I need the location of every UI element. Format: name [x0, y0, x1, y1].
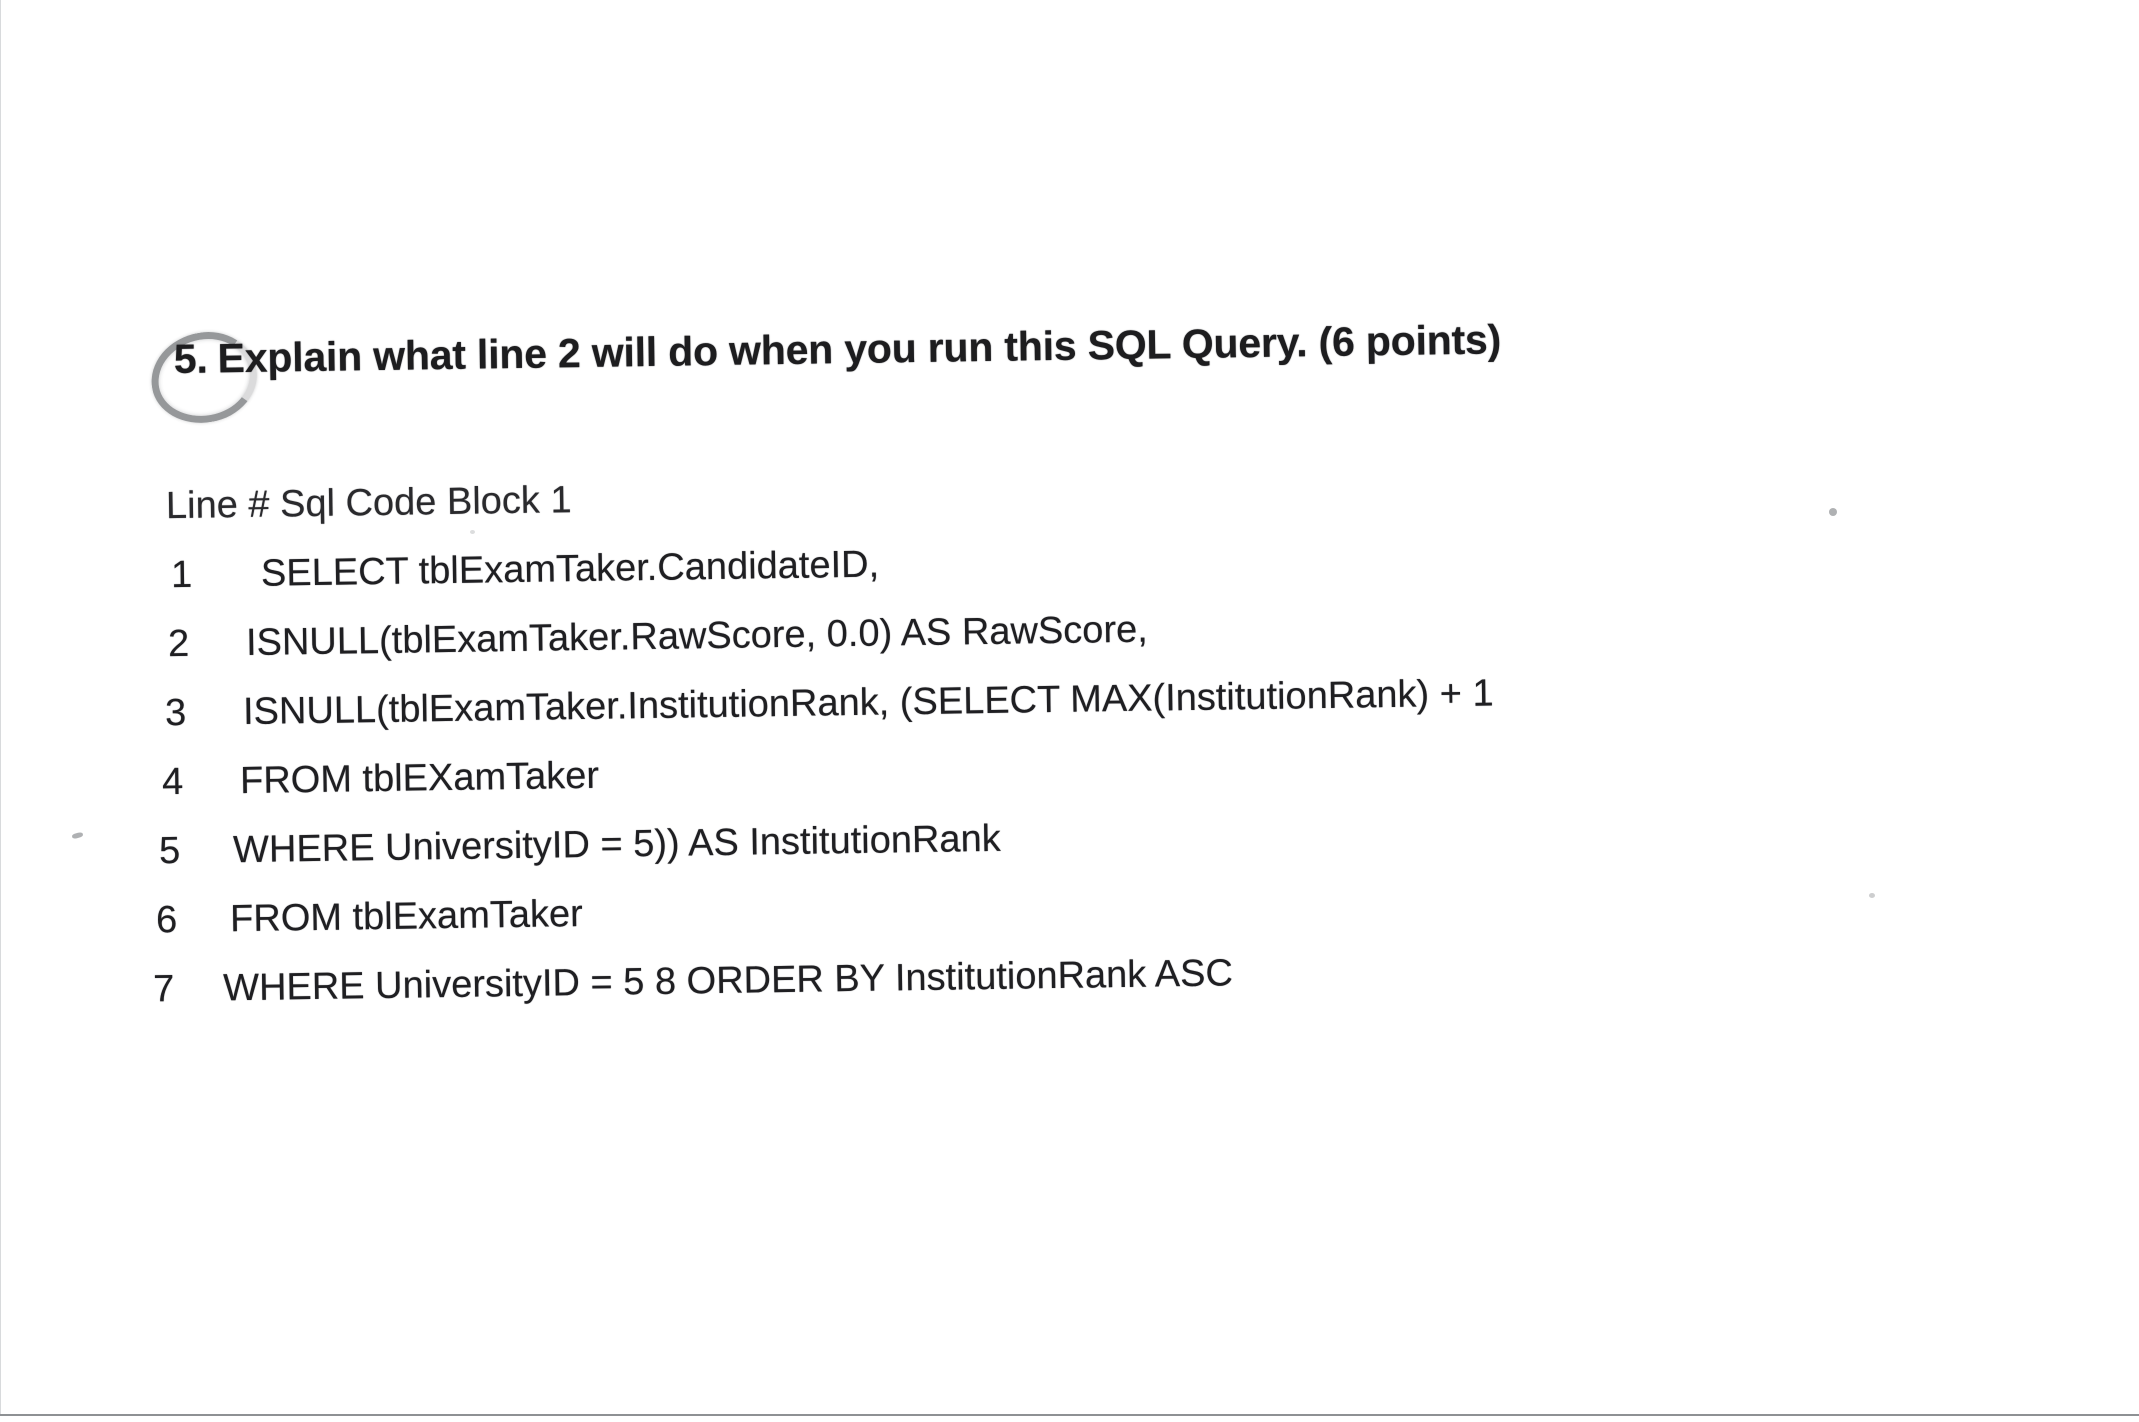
line-number: 7 — [153, 968, 188, 1011]
question-number: 5. — [173, 336, 207, 383]
line-number: 1 — [171, 554, 206, 597]
line-code: SELECT tblExamTaker.CandidateID, — [261, 544, 880, 596]
scan-speck — [1829, 508, 1837, 516]
line-code: FROM tblEXamTaker — [240, 755, 600, 803]
line-code: ISNULL(tblExamTaker.InstitutionRank, (SE… — [243, 672, 1494, 734]
line-number: 5 — [159, 830, 194, 873]
line-number: 4 — [162, 761, 197, 804]
scan-speck — [470, 530, 475, 534]
line-number: 2 — [168, 623, 203, 666]
line-code: WHERE UniversityID = 5)) AS InstitutionR… — [233, 818, 1001, 872]
line-number: 3 — [165, 692, 200, 735]
question-text: Explain what line 2 will do when you run… — [217, 316, 1501, 381]
line-code: WHERE UniversityID = 5 8 ORDER BY Instit… — [223, 952, 1233, 1010]
scanned-page: 5.Explain what line 2 will do when you r… — [0, 0, 2139, 1416]
question-heading: 5.Explain what line 2 will do when you r… — [173, 316, 1501, 383]
line-code: FROM tblExamTaker — [230, 893, 583, 941]
scan-edge-left — [0, 0, 1, 1416]
line-number: 6 — [156, 899, 191, 942]
code-block-header: Line # Sql Code Block 1 — [166, 479, 572, 528]
scan-skew-layer: 5.Explain what line 2 will do when you r… — [0, 0, 2139, 1422]
line-code: ISNULL(tblExamTaker.RawScore, 0.0) AS Ra… — [246, 609, 1148, 665]
scan-speck — [1869, 893, 1875, 898]
